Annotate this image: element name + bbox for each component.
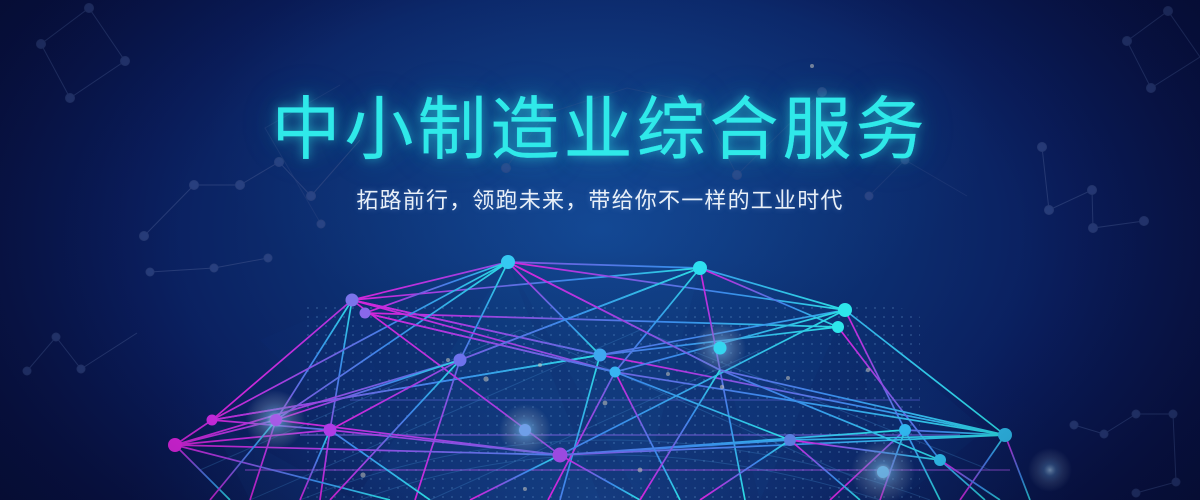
background-vignette: [0, 0, 1200, 500]
hero-banner: 中小制造业综合服务 拓路前行，领跑未来，带给你不一样的工业时代: [0, 0, 1200, 500]
